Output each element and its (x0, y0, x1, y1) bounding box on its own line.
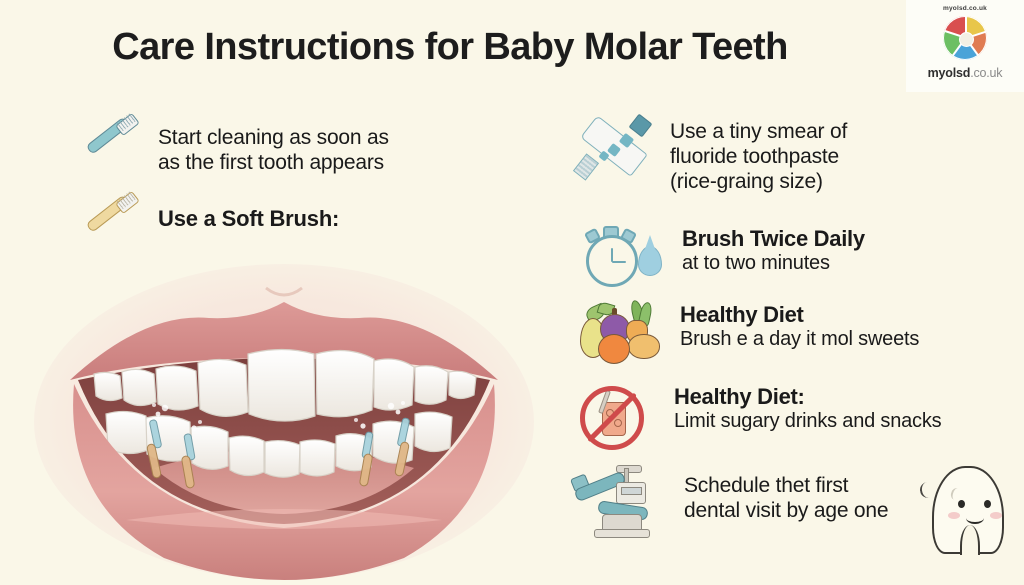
tip-fluoride-toothpaste: Use a tiny smear of fluoride toothpaste … (576, 118, 847, 194)
smiling-tooth-mascot-icon (926, 462, 1010, 558)
toothbrush-teal-icon (84, 122, 146, 184)
tip-start-cleaning: Start cleaning as soon as as the first t… (84, 122, 389, 184)
logo-wordmark-suffix: .co.uk (970, 66, 1002, 80)
tip-start-cleaning-text: Start cleaning as soon as as the first t… (146, 122, 389, 176)
tip-line: Use a Soft Brush: (158, 206, 339, 232)
tip-line: (rice-graing size) (670, 170, 847, 195)
tip-line: at to two minutes (682, 252, 865, 276)
open-mouth-illustration (34, 262, 534, 580)
tip-heading: Healthy Diet (680, 302, 919, 328)
logo-wordmark: myolsd.co.uk (928, 66, 1003, 80)
tip-soft-brush-text: Use a Soft Brush: (146, 200, 339, 232)
tip-healthy-diet: Healthy Diet Brush e a day it mol sweets (576, 300, 919, 364)
water-drop-icon (638, 246, 662, 276)
tip-first-dental-visit-text: Schedule thet first dental visit by age … (668, 466, 888, 524)
toothbrush-tan-icon (84, 200, 146, 252)
logo-wordmark-bold: myolsd (928, 66, 971, 80)
tip-limit-sugar-text: Healthy Diet: Limit sugary drinks and sn… (660, 382, 941, 434)
tip-limit-sugar: Healthy Diet: Limit sugary drinks and sn… (576, 382, 941, 456)
tip-line: fluoride toothpaste (670, 145, 847, 170)
infographic-poster: myolsd.co.uk myolsd.co.uk Care Instructi… (0, 0, 1024, 580)
tip-brush-twice-daily-text: Brush Twice Daily at to two minutes (668, 224, 865, 276)
page-title: Care Instructions for Baby Molar Teeth (0, 26, 900, 69)
tip-first-dental-visit: Schedule thet first dental visit by age … (572, 466, 888, 540)
tip-line: Brush e a day it mol sweets (680, 328, 919, 352)
tip-brush-twice-daily: Brush Twice Daily at to two minutes (580, 224, 865, 288)
tip-fluoride-toothpaste-text: Use a tiny smear of fluoride toothpaste … (656, 118, 847, 194)
tip-heading: Healthy Diet: (674, 384, 941, 410)
tip-healthy-diet-text: Healthy Diet Brush e a day it mol sweets (666, 300, 919, 352)
brand-logo-panel: myolsd.co.uk myolsd.co.uk (906, 0, 1024, 92)
tip-line: Schedule thet first (684, 474, 888, 499)
tip-line: Limit sugary drinks and snacks (674, 410, 941, 434)
toothpaste-tube-icon (576, 118, 656, 190)
tip-line: Use a tiny smear of (670, 120, 847, 145)
tip-line: as the first tooth appears (158, 151, 389, 176)
dental-chair-icon (572, 466, 668, 540)
logo-color-wheel-icon (943, 16, 987, 60)
logo-wheel-group: myolsd.co.uk (934, 5, 996, 59)
tip-line: Start cleaning as soon as (158, 126, 389, 151)
stopwatch-water-drop-icon (580, 224, 668, 288)
mouth-svg (34, 262, 534, 580)
tip-soft-brush: Use a Soft Brush: (84, 200, 339, 252)
tip-heading: Brush Twice Daily (682, 226, 865, 252)
fruits-vegetables-icon (576, 300, 666, 364)
no-sugary-drink-icon (576, 382, 660, 456)
tip-line: dental visit by age one (684, 499, 888, 524)
